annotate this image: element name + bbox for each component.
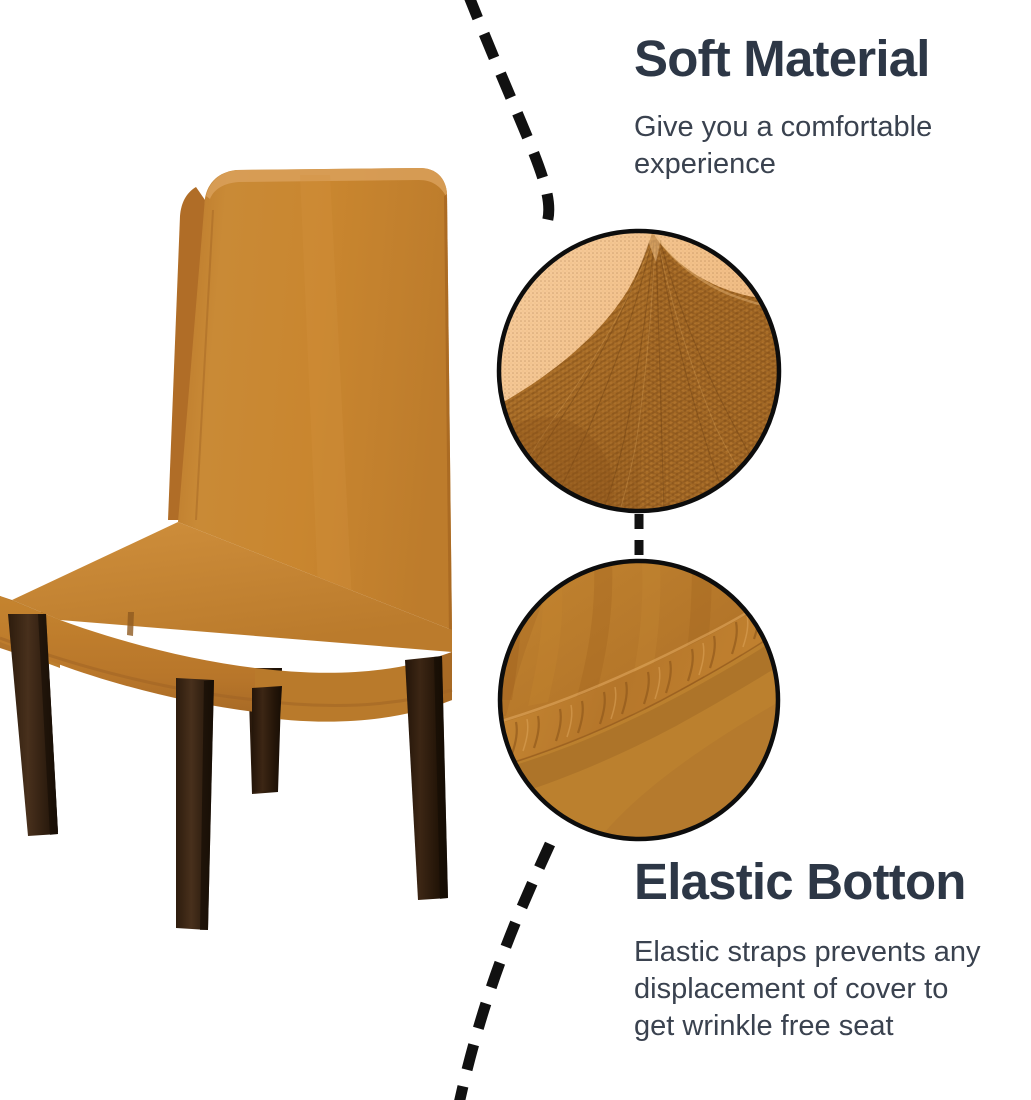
- feature-block-soft-material: Soft Material Give you a comfortable exp…: [634, 33, 1031, 183]
- feature-desc-line: Give you a comfortable: [634, 109, 1031, 146]
- infographic-canvas: Soft Material Give you a comfortable exp…: [0, 0, 1031, 1100]
- feature-desc-line: displacement of cover to: [634, 971, 1031, 1008]
- feature-desc-line: get wrinkle free seat: [634, 1008, 1031, 1045]
- feature-desc-line: Elastic straps prevents any: [634, 934, 1031, 971]
- feature-block-elastic-botton: Elastic Botton Elastic straps prevents a…: [634, 856, 1031, 1045]
- feature-description-soft-material: Give you a comfortable experience: [634, 109, 1031, 183]
- feature-desc-line: experience: [634, 146, 1031, 183]
- feature-title-elastic-botton: Elastic Botton: [634, 856, 1031, 908]
- feature-title-soft-material: Soft Material: [634, 33, 1031, 85]
- text-layer: Soft Material Give you a comfortable exp…: [0, 0, 1031, 1100]
- feature-description-elastic-botton: Elastic straps prevents any displacement…: [634, 934, 1031, 1045]
